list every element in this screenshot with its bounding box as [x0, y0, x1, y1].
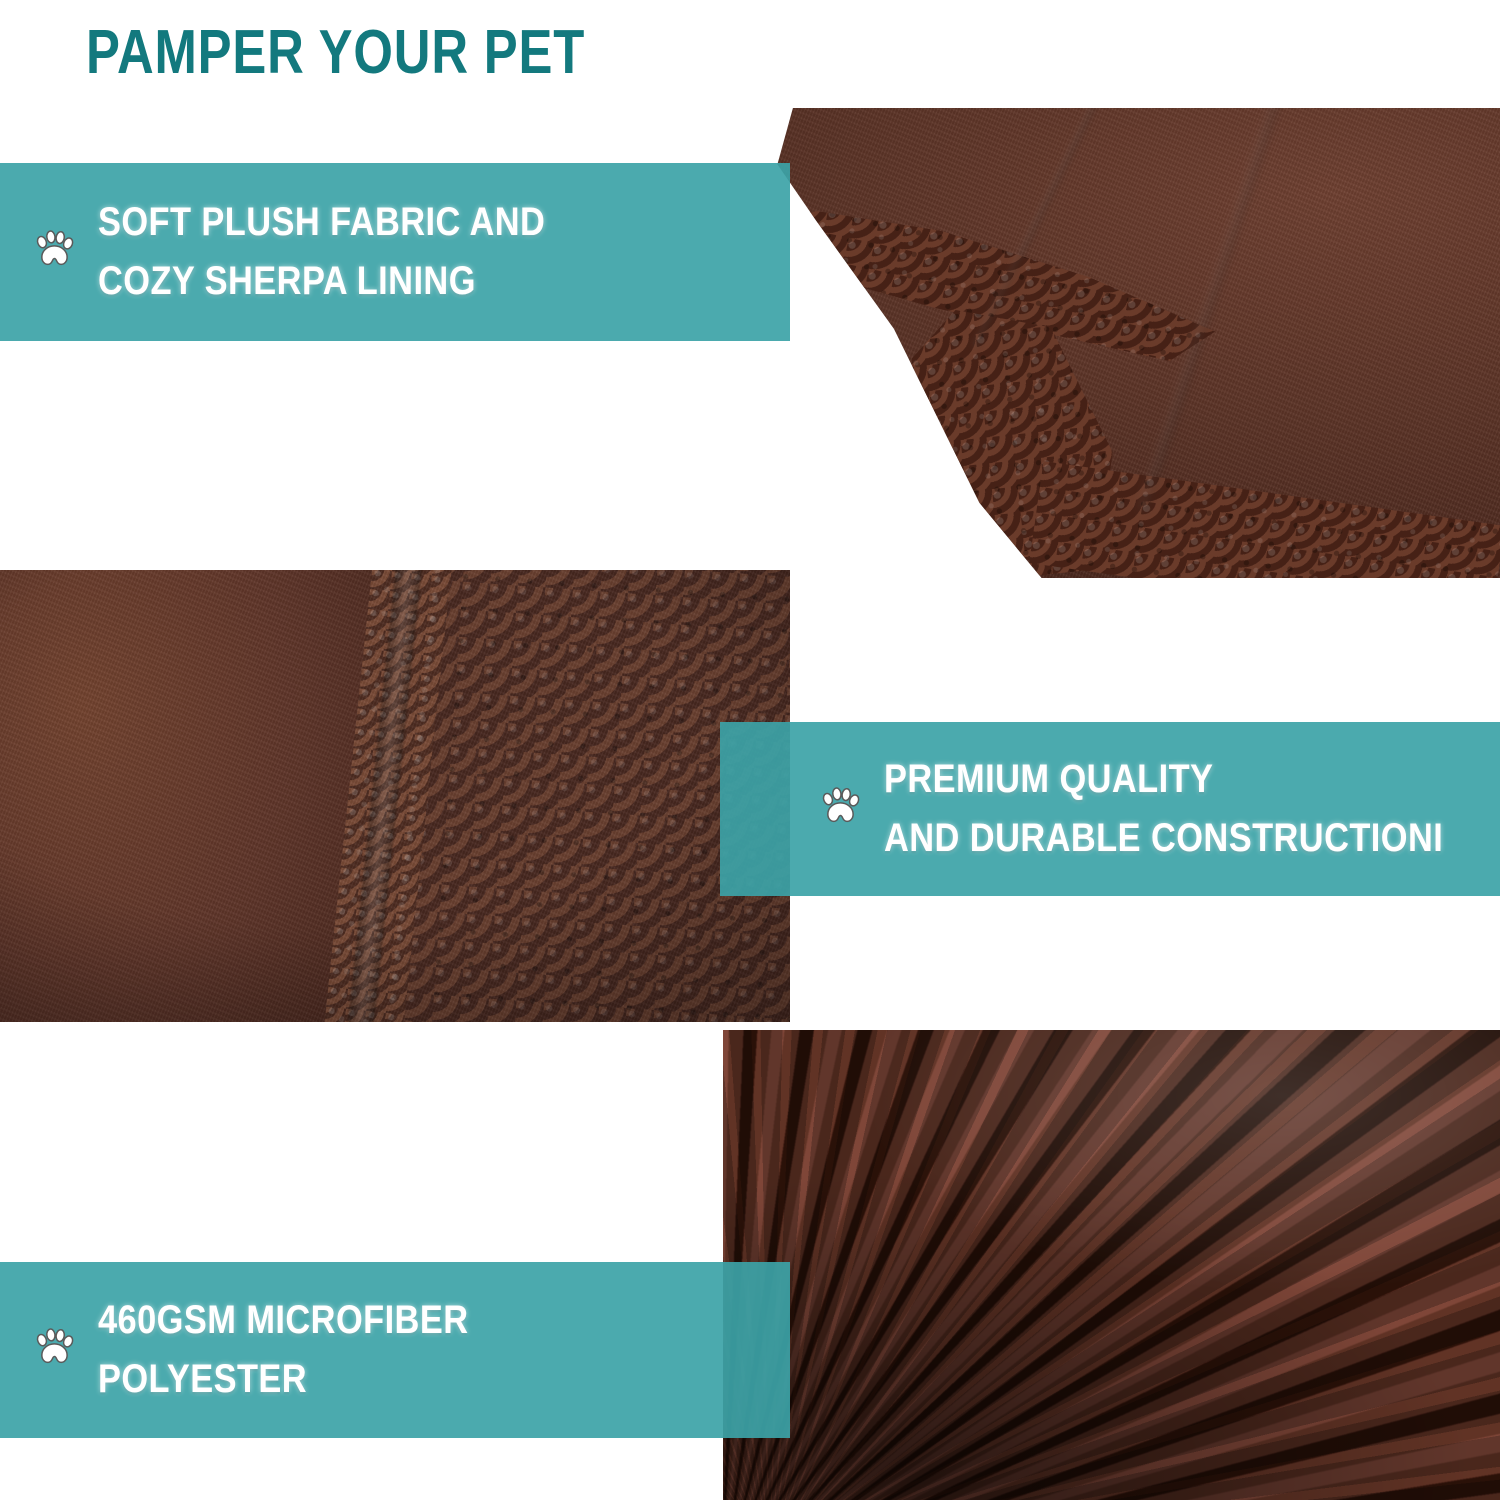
paw-icon	[32, 1326, 76, 1370]
feature-line-1: PREMIUM QUALITY	[884, 750, 1443, 809]
blanket-fold-shape	[723, 108, 1500, 578]
feature-banner-premium-quality[interactable]: PREMIUM QUALITY AND DURABLE CONSTRUCTION…	[720, 722, 1500, 896]
feature-line-2: POLYESTER	[98, 1350, 468, 1409]
feature-banner-460gsm-microfiber[interactable]: 460GSM MICROFIBER POLYESTER	[0, 1262, 790, 1438]
feature-line-2: AND DURABLE CONSTRUCTIONI	[884, 809, 1443, 868]
feature-banner-text: SOFT PLUSH FABRIC AND COZY SHERPA LINING	[98, 193, 545, 311]
feature-banner-content: PREMIUM QUALITY AND DURABLE CONSTRUCTION…	[818, 750, 1500, 868]
feature-banner-content: 460GSM MICROFIBER POLYESTER	[32, 1291, 529, 1409]
feature-banner-text: 460GSM MICROFIBER POLYESTER	[98, 1291, 468, 1409]
product-infographic: PAMPER YOUR PET SOFT PLUSH FABRIC AND CO…	[0, 0, 1500, 1500]
photo-draped-blanket-folds	[723, 1030, 1500, 1500]
feature-line-1: 460GSM MICROFIBER	[98, 1291, 468, 1350]
paw-icon	[32, 228, 76, 272]
fabric-sheen	[723, 1030, 1500, 1500]
photo-folded-blanket-with-sherpa-edge	[723, 108, 1500, 578]
feature-banner-content: SOFT PLUSH FABRIC AND COZY SHERPA LINING	[32, 193, 618, 311]
page-title: PAMPER YOUR PET	[86, 18, 585, 88]
feature-banner-text: PREMIUM QUALITY AND DURABLE CONSTRUCTION…	[884, 750, 1443, 868]
feature-line-1: SOFT PLUSH FABRIC AND	[98, 193, 545, 252]
paw-icon	[818, 785, 862, 829]
feature-banner-soft-plush[interactable]: SOFT PLUSH FABRIC AND COZY SHERPA LINING	[0, 163, 790, 341]
photo-plush-and-sherpa-seam-closeup	[0, 570, 790, 1022]
vignette-shading	[0, 570, 790, 1022]
feature-line-2: COZY SHERPA LINING	[98, 252, 545, 311]
